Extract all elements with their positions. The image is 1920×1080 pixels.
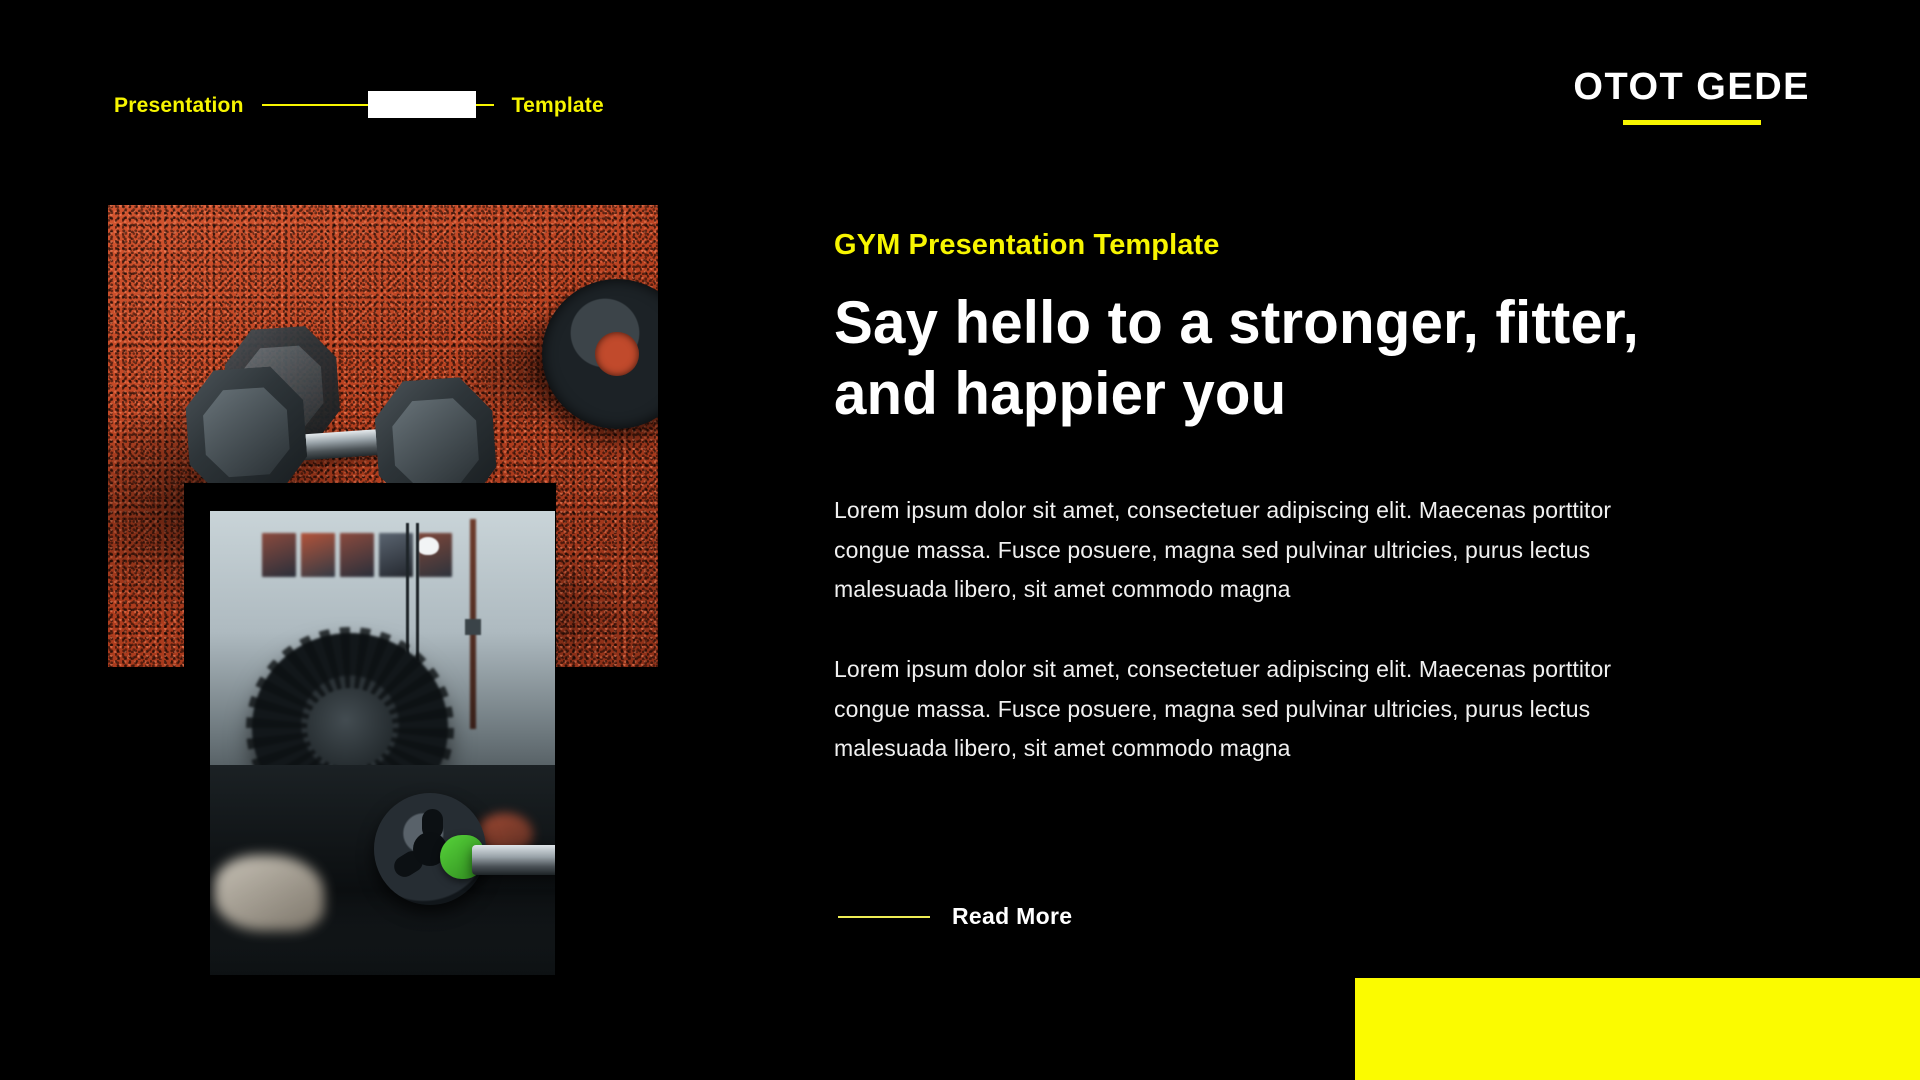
read-more-line [838,916,930,918]
accent-block-bottom-right [1355,978,1920,1080]
brand-logo: OTOT GEDE [1573,68,1810,125]
brand-underline [1623,120,1761,125]
page-title: Say hello to a stronger, fitter, and hap… [834,288,1756,430]
paragraph-1: Lorem ipsum dolor sit amet, consectetuer… [834,491,1689,610]
slide-canvas: Presentation Template OTOT GEDE [0,0,1920,1080]
read-more-button[interactable]: Read More [838,903,1072,930]
climbing-rope-icon-2 [416,523,419,661]
header-right-word: Template [512,95,604,116]
header-breadcrumb: Presentation Template [114,90,604,120]
paragraph-2: Lorem ipsum dolor sit amet, consectetuer… [834,650,1689,769]
brand-name: OTOT GEDE [1573,68,1810,106]
photo-gym-equipment [210,511,555,975]
barbell-shaft [472,845,555,875]
header-divider-chip [368,91,476,118]
barbell-plate-stack [350,789,555,939]
content-column: GYM Presentation Template Say hello to a… [834,228,1834,769]
foreground-blur-object [214,855,324,931]
eyebrow-label: GYM Presentation Template [834,228,1834,263]
header-divider [262,90,494,120]
body-copy: Lorem ipsum dolor sit amet, consectetuer… [834,491,1834,768]
header-left-word: Presentation [114,95,244,116]
wall-sign-icon [417,537,439,555]
wall-outlet-icon [465,619,481,635]
read-more-label: Read More [952,903,1072,930]
